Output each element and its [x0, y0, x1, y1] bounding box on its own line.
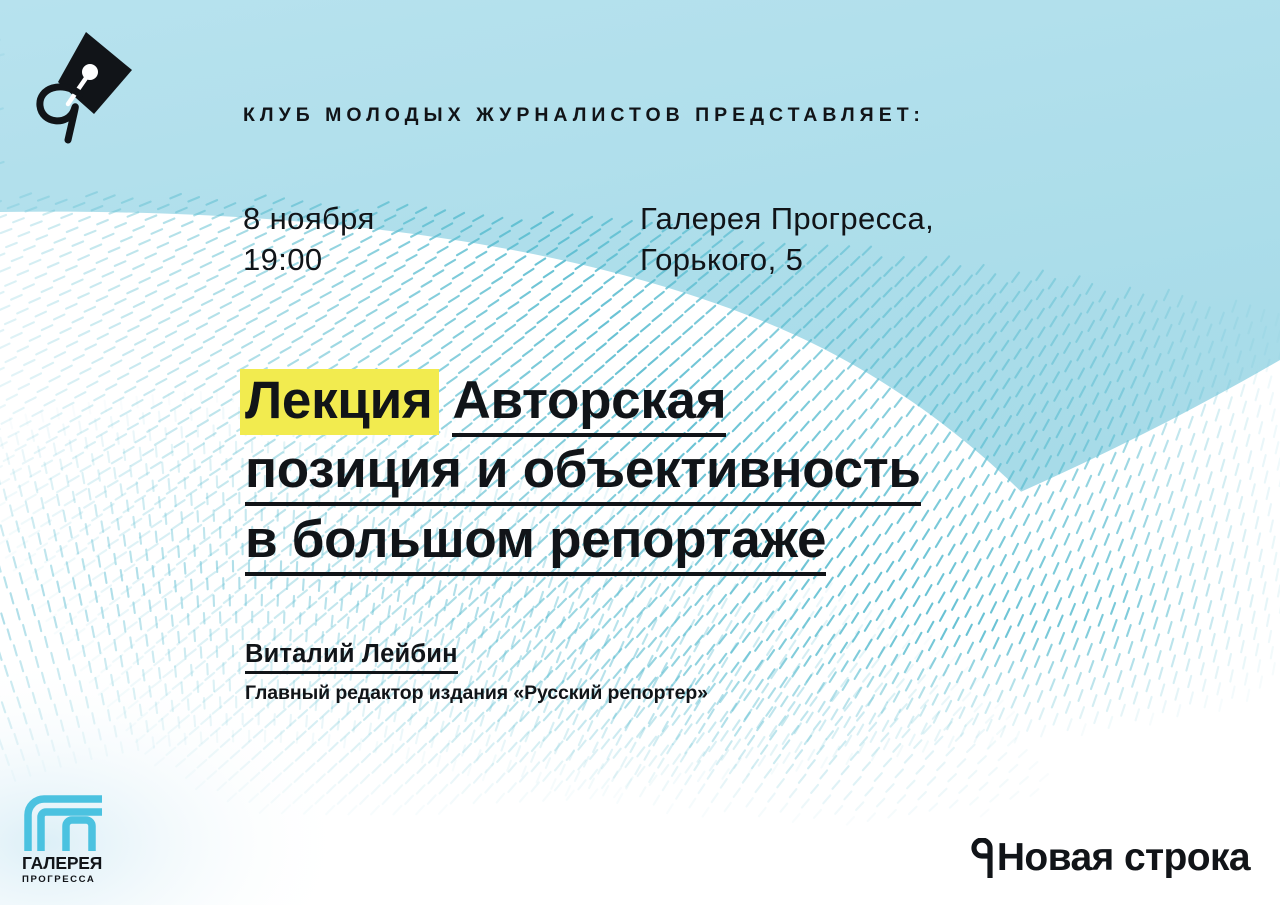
venue-address: Горького, 5	[640, 239, 934, 280]
gallery-progressa-logo: ГАЛЕРЕЯ ПРОГРЕССА	[22, 795, 140, 885]
headline-text-2: позиция и объективность	[245, 440, 921, 506]
headline-line-2: позиция и объективность	[245, 435, 1245, 504]
event-date-block: 8 ноября 19:00	[243, 198, 375, 280]
gallery-logo-subtitle: ПРОГРЕССА	[22, 874, 140, 885]
headline-block: ЛекцияАвторская позиция и объективность …	[245, 366, 1245, 574]
brand-novaya-stroka: Новая строка	[969, 836, 1250, 880]
speaker-name: Виталий Лейбин	[245, 640, 458, 674]
headline-line-3: в большом репортаже	[245, 505, 1245, 574]
headline-text-3: в большом репортаже	[245, 510, 826, 576]
brand-text: Новая строка	[997, 836, 1250, 880]
event-date: 8 ноября	[243, 198, 375, 239]
pen-nib-icon	[28, 26, 138, 146]
speaker-block: Виталий Лейбин Главный редактор издания …	[245, 640, 708, 705]
venue-name: Галерея Прогресса,	[640, 198, 934, 239]
kicker-text: КЛУБ МОЛОДЫХ ЖУРНАЛИСТОВ ПРЕДСТАВЛЯЕТ:	[243, 104, 925, 127]
poster-canvas: КЛУБ МОЛОДЫХ ЖУРНАЛИСТОВ ПРЕДСТАВЛЯЕТ: 8…	[0, 0, 1280, 905]
headline-text-1: Авторская	[452, 371, 726, 437]
speaker-role: Главный редактор издания «Русский репорт…	[245, 682, 708, 705]
event-time: 19:00	[243, 239, 375, 280]
headline-badge: Лекция	[240, 369, 439, 435]
arch-gateway-icon	[22, 795, 108, 851]
gallery-logo-name: ГАЛЕРЕЯ	[22, 853, 140, 874]
n-hook-icon	[969, 838, 995, 878]
headline-line-1: ЛекцияАвторская	[245, 366, 1245, 435]
event-venue-block: Галерея Прогресса, Горького, 5	[640, 198, 934, 280]
